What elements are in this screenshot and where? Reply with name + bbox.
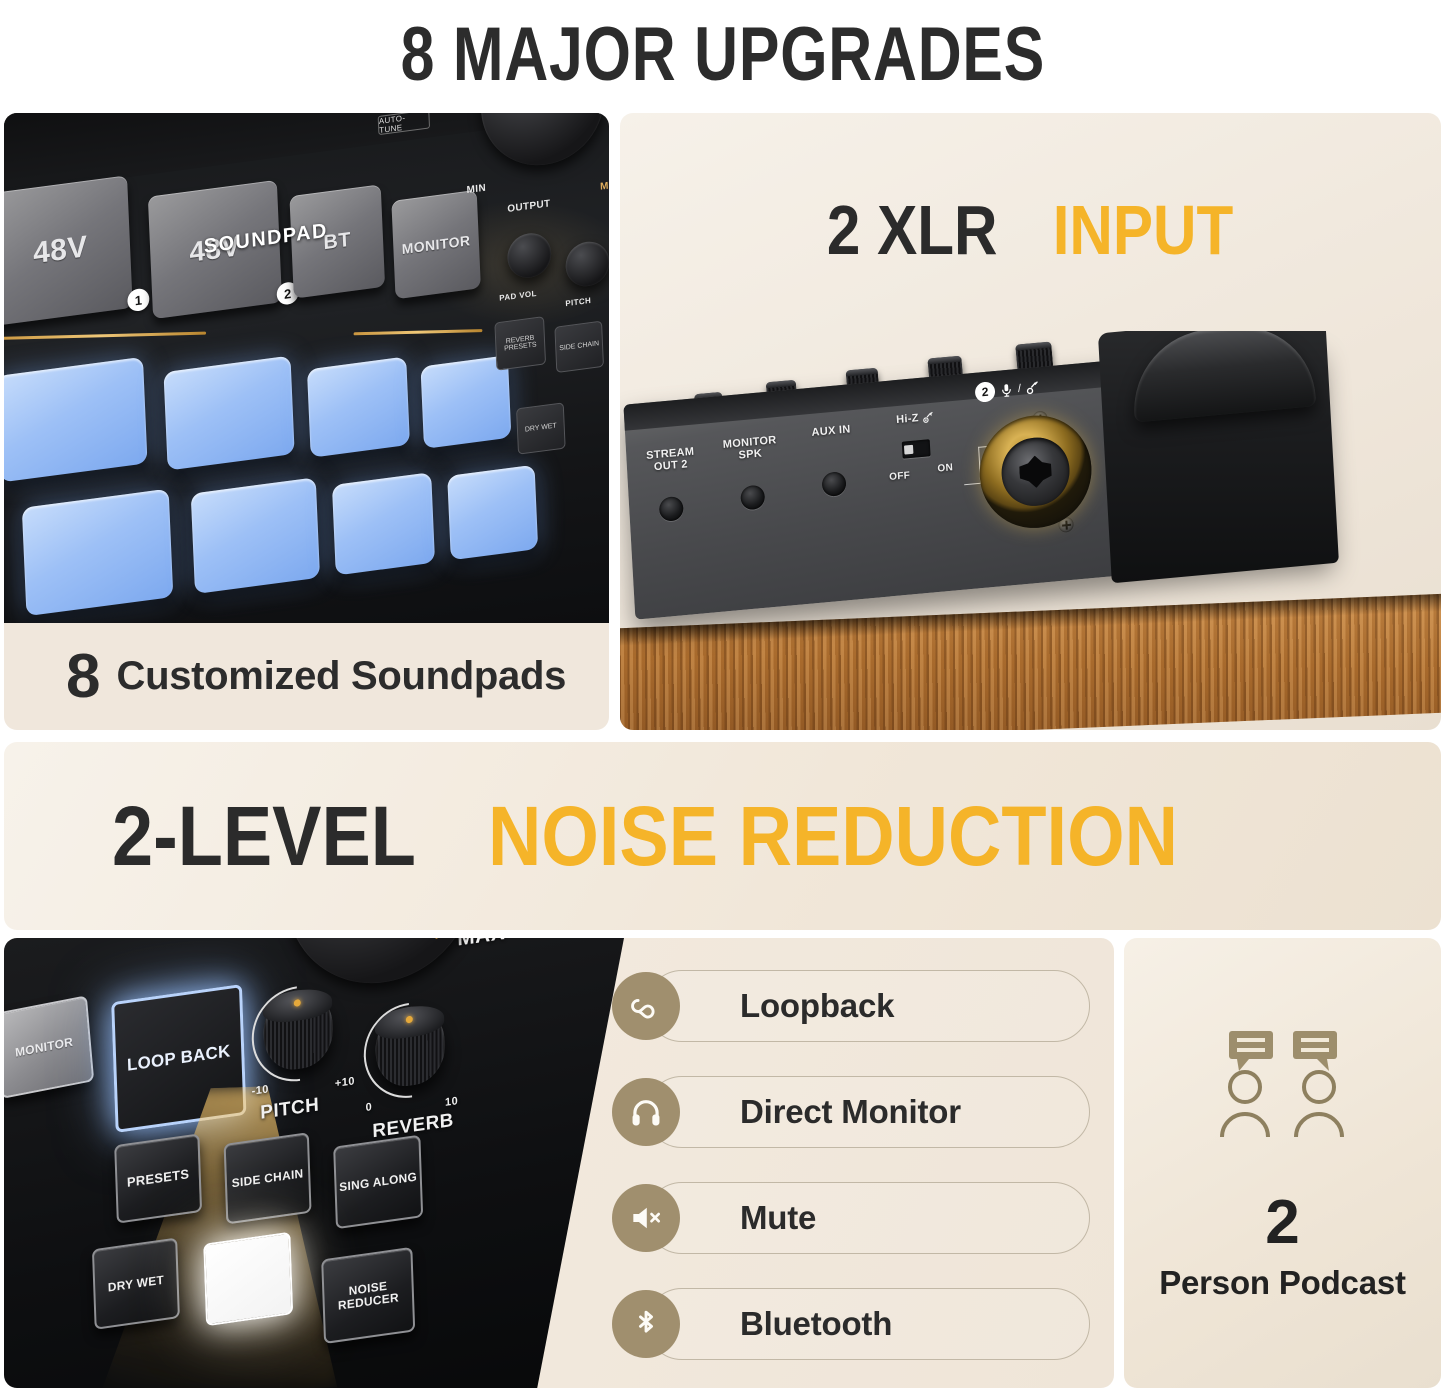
monitor-key[interactable]: MONITOR (4, 995, 94, 1099)
reverb-max-label: 10 (445, 1095, 459, 1109)
hi-z-switch[interactable] (902, 439, 931, 459)
monitor-spk-jack[interactable] (740, 484, 765, 510)
feature-row-bluetooth[interactable]: Bluetooth (612, 1288, 1090, 1360)
soundpad-pad[interactable] (307, 356, 410, 457)
presets-key[interactable]: PRESETS (114, 1133, 202, 1223)
output-dial[interactable] (478, 113, 606, 173)
pitch-min-label: -10 (251, 1083, 269, 1097)
pitch-knob[interactable] (565, 239, 609, 289)
hi-z-off-label: OFF (882, 470, 918, 484)
monitor-button[interactable]: MONITOR (391, 190, 481, 300)
podcast-person-count: 2 (1265, 1192, 1299, 1254)
speaker-mute-icon (612, 1184, 680, 1252)
page-title: 8 MAJOR UPGRADES (400, 17, 1045, 93)
xlr-heading-dark: 2 XLR (827, 195, 998, 265)
soundpad-pad[interactable] (4, 357, 148, 483)
hi-z-switch-knob (904, 445, 913, 455)
side-chain-key[interactable]: SIDE CHAIN (224, 1132, 312, 1224)
dry-wet-key[interactable]: DRY WET (92, 1237, 180, 1329)
pitch-max-label: +10 (335, 1075, 355, 1090)
soundpad-pad[interactable] (447, 465, 538, 561)
wood-desk-surface (620, 592, 1441, 730)
gold-divider-left (4, 332, 206, 340)
panel-xlr-input: 2 XLR INPUT STREAM OUT 2 MONITOR SPK AUX (620, 113, 1441, 730)
reverb-min-label: 0 (365, 1101, 372, 1114)
channel-badge-1: 1 (127, 287, 150, 312)
illuminated-key[interactable] (203, 1232, 293, 1327)
xlr-combo-jack-2[interactable] (977, 411, 1095, 533)
hi-z-label-group: Hi-Z (892, 410, 939, 427)
xlr-jack-inner (1000, 435, 1071, 508)
soundpad-caption-text: Customized Soundpads (116, 654, 566, 699)
monitor-spk-label: MONITOR SPK (712, 434, 789, 465)
mixer-deck: Bb B C Db D Eb E F Gb G Ab SOUNDPAD (4, 113, 609, 623)
feature-label: Bluetooth (740, 1305, 892, 1343)
feature-label: Direct Monitor (740, 1093, 961, 1131)
xlr-rear-panel: STREAM OUT 2 MONITOR SPK AUX IN Hi-Z OFF (623, 341, 1332, 619)
banner-heading: 2-LEVEL NOISE REDUCTION (112, 794, 1272, 878)
hi-z-label: Hi-Z (896, 413, 919, 427)
soundpad-pad[interactable] (332, 472, 435, 575)
device-right-end (1098, 331, 1339, 583)
feature-label: Mute (740, 1199, 816, 1237)
mic-icon (999, 381, 1015, 399)
aux-in-jack[interactable] (821, 471, 846, 497)
gold-divider-right (354, 329, 483, 335)
dial-min-label: MIN (466, 183, 486, 197)
pad-volume-knob[interactable] (507, 231, 553, 281)
noise-reducer-key[interactable]: NOISE REDUCER (321, 1247, 415, 1344)
panel-trace-line (964, 483, 982, 486)
master-dial[interactable] (1130, 331, 1316, 423)
reverb-presets-key[interactable]: REVERB PRESETS (494, 316, 546, 371)
panel-features: MIN OUTPUT MAX MONITOR LOOP BACK -10 +10… (4, 938, 1114, 1388)
xlr-heading: 2 XLR INPUT (620, 195, 1441, 265)
stream-out-2-jack[interactable] (659, 496, 684, 522)
guitar-icon (1025, 380, 1041, 396)
hi-z-on-label: ON (927, 462, 963, 476)
feature-row-direct-monitor[interactable]: Direct Monitor (612, 1076, 1090, 1148)
pad-volume-label: PAD VOL (499, 289, 537, 303)
infographic-page: 8 MAJOR UPGRADES Bb B C Db D Eb E F Gb (0, 0, 1445, 1392)
xlr-product-photo: STREAM OUT 2 MONITOR SPK AUX IN Hi-Z OFF (620, 331, 1441, 730)
feature-pill (646, 1182, 1090, 1254)
dial-max-label: MAX (457, 938, 506, 952)
dial-output-label: OUTPUT (507, 198, 551, 215)
xlr-jack-slot (1019, 454, 1053, 489)
soundpad-count: 8 (66, 646, 100, 708)
feature-row-loopback[interactable]: Loopback (612, 970, 1090, 1042)
panel-soundpads: Bb B C Db D Eb E F Gb G Ab SOUNDPAD (4, 113, 609, 730)
aux-in-label: AUX IN (801, 423, 861, 440)
mixer-controls-deck: MIN OUTPUT MAX MONITOR LOOP BACK -10 +10… (4, 938, 624, 1388)
dry-wet-key[interactable]: DRY WET (516, 402, 566, 454)
headphones-icon (612, 1078, 680, 1146)
xlr-heading-accent: INPUT (1053, 195, 1234, 265)
feature-row-mute[interactable]: Mute (612, 1182, 1090, 1254)
pitch-label: PITCH (565, 296, 591, 308)
dial-max-label: MAX (600, 179, 609, 193)
two-people-speech-bubbles-icon (1203, 1025, 1363, 1150)
bluetooth-icon (612, 1290, 680, 1358)
page-header: 8 MAJOR UPGRADES (0, 0, 1445, 110)
podcast-label: Person Podcast (1159, 1264, 1406, 1302)
features-product-photo: MIN OUTPUT MAX MONITOR LOOP BACK -10 +10… (4, 938, 624, 1388)
feature-list: Loopback Direct Monitor (612, 970, 1090, 1360)
banner-heading-dark: 2-LEVEL (112, 794, 416, 878)
panel-noise-reduction-banner: 2-LEVEL NOISE REDUCTION (4, 742, 1441, 930)
feature-label: Loopback (740, 987, 894, 1025)
channel-2-number: 2 (975, 381, 996, 403)
soundpad-pad[interactable] (163, 356, 294, 471)
stream-out-2-label: STREAM OUT 2 (634, 446, 707, 476)
soundpad-caption: 8 Customized Soundpads (4, 623, 609, 730)
phantom-power-button-1[interactable]: 48V (4, 175, 133, 326)
panel-person-podcast: 2 Person Podcast (1124, 938, 1441, 1388)
guitar-icon (921, 411, 935, 425)
soundpad-pad[interactable] (191, 477, 320, 594)
banner-heading-accent: NOISE REDUCTION (488, 794, 1178, 878)
soundpad-pad[interactable] (22, 489, 173, 617)
soundpad-product-photo: Bb B C Db D Eb E F Gb G Ab SOUNDPAD (4, 113, 609, 623)
loopback-infinity-icon (612, 972, 680, 1040)
sing-along-key[interactable]: SING ALONG (333, 1135, 423, 1230)
side-chain-key[interactable]: SIDE CHAIN (554, 321, 604, 373)
